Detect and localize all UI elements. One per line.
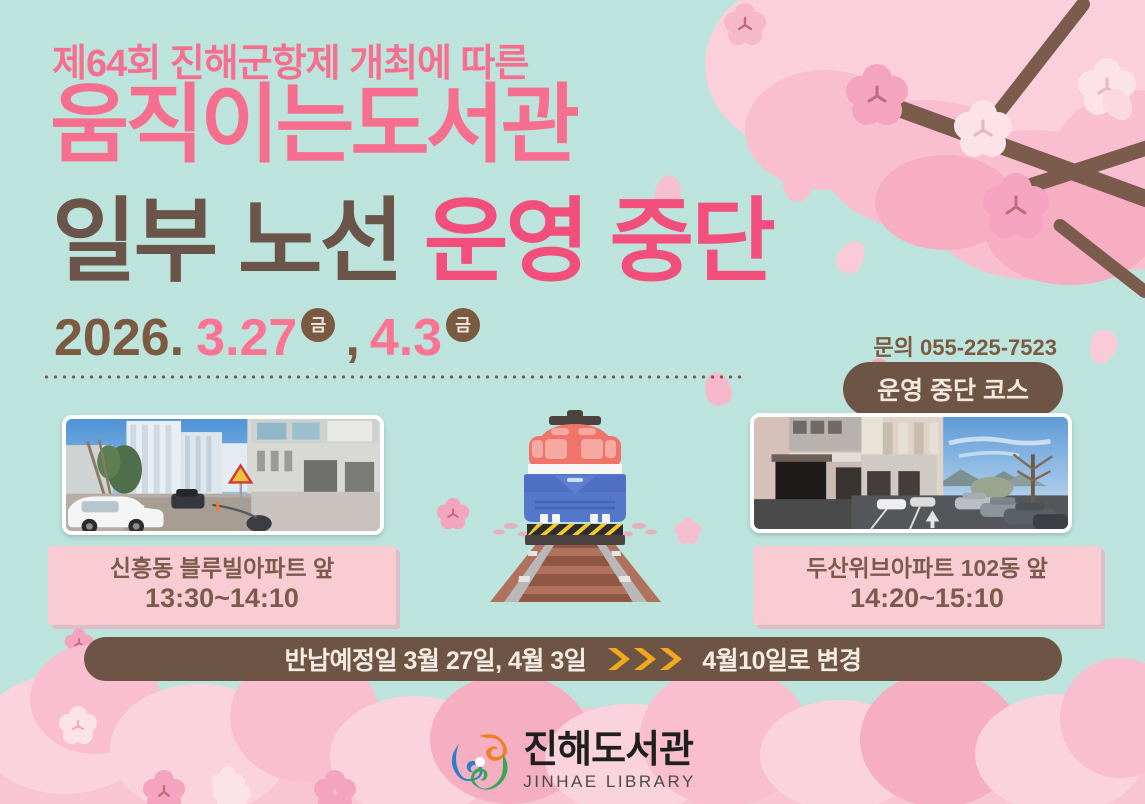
stop-time-left: 13:30~14:10 [52,582,392,615]
apartment-street-photo [66,419,380,531]
date-first: 3.27 [196,312,297,364]
small-blossom-icon [672,515,704,547]
train-illustration [483,406,668,604]
date-year: 2026. [54,312,184,364]
headline-prefix: 일부 노선 [52,191,424,293]
jinhae-library-swirl-logo-icon [449,732,511,790]
headline-highlight: 운영 중단 [424,191,773,293]
stop-time-right: 14:20~15:10 [757,582,1097,615]
day-chip-second: 금 [446,308,480,342]
date-second: 4.3 [370,312,442,364]
chevrons-right-icon [606,646,682,672]
banner-after-text: 4월10일로 변경 [702,641,861,677]
falling-petal-icon [777,164,815,206]
falling-petal-icon [1085,327,1121,368]
banner-before-text: 반납예정일 3월 27일, 4월 3일 [285,641,587,677]
library-logo: 진해도서관 JINHAE LIBRARY [0,731,1145,790]
small-blossom-icon [1070,672,1104,706]
falling-petal-icon [1097,84,1139,127]
falling-petal-icon [831,236,871,278]
stop-caption-right: 두산위브아파트 102동 앞 14:20~15:10 [753,546,1101,625]
stop-photo-left [62,415,384,535]
logo-text: 진해도서관 JINHAE LIBRARY [523,731,696,790]
date-separator: , [345,312,359,364]
stop-place-right: 두산위브아파트 102동 앞 [757,554,1097,582]
page-title: 움직이는도서관 [50,82,576,168]
poster-root: 제64회 진해군항제 개최에 따른 움직이는도서관 일부 노선 운영 중단 20… [0,0,1145,804]
train-undercarriage [525,535,625,545]
apartment-parking-photo [754,417,1068,529]
dotted-divider [42,375,742,379]
contact-phone: 문의 055-225-7523 [873,330,1057,362]
stop-place-left: 신흥동 블루빌아파트 앞 [52,554,392,582]
stop-photo-right [750,413,1072,533]
event-dates: 2026. 3.27 금 , 4.3 금 [54,312,480,364]
logo-name-en: JINHAE LIBRARY [523,773,696,790]
return-date-notice-banner: 반납예정일 3월 27일, 4월 3일 4월10일로 변경 [84,637,1062,681]
cherry-tree-branch-decoration [725,0,1145,320]
day-chip-first: 금 [301,308,335,342]
small-blossom-icon [434,495,472,533]
headline-secondary: 일부 노선 운영 중단 [52,196,773,288]
logo-name-ko: 진해도서관 [523,731,696,769]
course-suspended-badge: 운영 중단 코스 [843,362,1063,416]
stop-caption-left: 신흥동 블루빌아파트 앞 13:30~14:10 [48,546,396,625]
